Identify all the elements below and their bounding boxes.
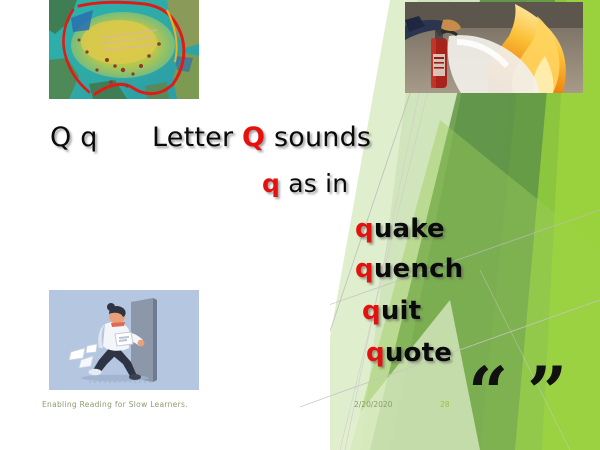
title-after: sounds: [265, 122, 371, 153]
word-item: quake: [355, 214, 445, 244]
close-quote-mark: ”: [527, 358, 567, 428]
slide-footer: Enabling Reading for Slow Learners. 2/20…: [0, 400, 600, 416]
slide-canvas: Q q Letter Q sounds q as in quake quench…: [0, 0, 600, 450]
word-highlight-letter: q: [355, 254, 374, 284]
letter-pair-label: Q q: [50, 122, 98, 153]
title-highlight-letter: Q: [242, 122, 265, 153]
open-quote-mark: “: [468, 358, 508, 428]
word-rest: uit: [381, 296, 421, 326]
word-highlight-letter: q: [366, 338, 385, 368]
fire-extinguisher-photo: [405, 2, 583, 93]
word-rest: uench: [374, 254, 464, 284]
person-leaving-door-illustration: [49, 290, 199, 390]
word-item: quote: [366, 338, 452, 368]
word-rest: uake: [374, 214, 445, 244]
word-rest: uote: [385, 338, 452, 368]
pacific-ring-of-fire-map: [49, 0, 199, 99]
as-in-highlight-letter: q: [262, 169, 280, 198]
page-title: Letter Q sounds: [152, 122, 371, 153]
as-in-line: q as in: [262, 169, 348, 198]
footer-note: Enabling Reading for Slow Learners.: [42, 400, 188, 409]
footer-date: 2/20/2020: [354, 400, 392, 409]
word-highlight-letter: q: [355, 214, 374, 244]
as-in-text: as in: [280, 169, 348, 198]
word-highlight-letter: q: [362, 296, 381, 326]
title-before: Letter: [152, 122, 242, 153]
word-item: quit: [362, 296, 421, 326]
footer-page-number: 28: [440, 400, 450, 409]
word-item: quench: [355, 254, 463, 284]
